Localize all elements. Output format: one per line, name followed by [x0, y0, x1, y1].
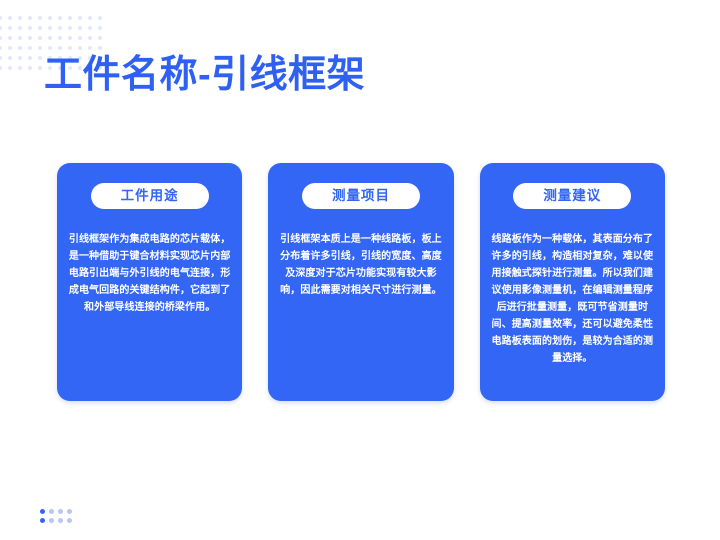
- decorative-dot: [28, 56, 32, 60]
- decorative-dot: [68, 26, 72, 30]
- decorative-dot: [8, 66, 12, 70]
- decorative-dot: [78, 16, 82, 20]
- decorative-dot: [58, 16, 62, 20]
- decorative-dot: [98, 36, 102, 40]
- decorative-dot: [8, 36, 12, 40]
- decorative-dot: [0, 26, 2, 30]
- decorative-dot: [18, 66, 22, 70]
- decorative-dot: [48, 36, 52, 40]
- decorative-dot: [98, 46, 102, 50]
- decorative-dot: [78, 26, 82, 30]
- card-pill-measurement-advice: 测量建议: [513, 183, 631, 209]
- decorative-dot: [88, 16, 92, 20]
- decorative-dot: [8, 16, 12, 20]
- decorative-dot: [18, 56, 22, 60]
- decorative-dot: [48, 16, 52, 20]
- card-group: 工件用途 引线框架作为集成电路的芯片载体，是一种借助于键合材料实现芯片内部电路引…: [57, 163, 665, 401]
- decorative-dot: [8, 46, 12, 50]
- card-measurement-advice[interactable]: 测量建议 线路板作为一种载体，其表面分布了许多的引线，构造相对复杂，难以使用接触…: [480, 163, 665, 401]
- dot-grid-bottom-left-icon: [40, 509, 72, 523]
- decorative-dot: [58, 26, 62, 30]
- card-workpiece-purpose[interactable]: 工件用途 引线框架作为集成电路的芯片载体，是一种借助于键合材料实现芯片内部电路引…: [57, 163, 242, 401]
- decorative-dot: [40, 518, 45, 523]
- decorative-dot: [8, 56, 12, 60]
- decorative-dot: [88, 46, 92, 50]
- decorative-dot: [88, 36, 92, 40]
- decorative-dot: [58, 509, 63, 514]
- card-body-text: 引线框架本质上是一种线路板，板上分布着许多引线，引线的宽度、高度及深度对于芯片功…: [277, 231, 445, 299]
- decorative-dot: [38, 36, 42, 40]
- decorative-dot: [78, 36, 82, 40]
- decorative-dot: [78, 46, 82, 50]
- page-title: 工件名称-引线框架: [44, 52, 365, 98]
- decorative-dot: [8, 26, 12, 30]
- card-pill-label: 工件用途: [121, 189, 179, 203]
- decorative-dot: [28, 16, 32, 20]
- decorative-dot: [58, 46, 62, 50]
- card-pill-workpiece-purpose: 工件用途: [91, 183, 209, 209]
- decorative-dot: [68, 16, 72, 20]
- decorative-dot: [68, 46, 72, 50]
- card-pill-measurement-items: 测量项目: [302, 183, 420, 209]
- decorative-dot: [49, 518, 54, 523]
- decorative-dot: [18, 26, 22, 30]
- decorative-dot: [40, 509, 45, 514]
- decorative-dot: [48, 46, 52, 50]
- slide-canvas: 工件名称-引线框架 工件用途 引线框架作为集成电路的芯片载体，是一种借助于键合材…: [0, 0, 720, 540]
- decorative-dot: [28, 36, 32, 40]
- decorative-dot: [18, 16, 22, 20]
- decorative-dot: [68, 36, 72, 40]
- decorative-dot: [18, 36, 22, 40]
- decorative-dot: [0, 66, 2, 70]
- decorative-dot: [28, 26, 32, 30]
- card-pill-label: 测量项目: [332, 189, 390, 203]
- card-body-text: 线路板作为一种载体，其表面分布了许多的引线，构造相对复杂，难以使用接触式探针进行…: [488, 231, 656, 367]
- decorative-dot: [58, 36, 62, 40]
- card-measurement-items[interactable]: 测量项目 引线框架本质上是一种线路板，板上分布着许多引线，引线的宽度、高度及深度…: [268, 163, 453, 401]
- decorative-dot: [38, 46, 42, 50]
- decorative-dot: [98, 16, 102, 20]
- decorative-dot: [18, 46, 22, 50]
- decorative-dot: [28, 46, 32, 50]
- decorative-dot: [0, 16, 2, 20]
- card-body-text: 引线框架作为集成电路的芯片载体，是一种借助于键合材料实现芯片内部电路引出端与外引…: [66, 231, 234, 316]
- decorative-dot: [0, 46, 2, 50]
- decorative-dot: [67, 509, 72, 514]
- decorative-dot: [38, 56, 42, 60]
- card-pill-label: 测量建议: [543, 189, 601, 203]
- decorative-dot: [88, 26, 92, 30]
- decorative-dot: [58, 518, 63, 523]
- decorative-dot: [67, 518, 72, 523]
- decorative-dot: [38, 66, 42, 70]
- decorative-dot: [0, 56, 2, 60]
- decorative-dot: [28, 66, 32, 70]
- decorative-dot: [0, 36, 2, 40]
- decorative-dot: [98, 26, 102, 30]
- decorative-dot: [48, 26, 52, 30]
- decorative-dot: [49, 509, 54, 514]
- decorative-dot: [38, 16, 42, 20]
- decorative-dot: [38, 26, 42, 30]
